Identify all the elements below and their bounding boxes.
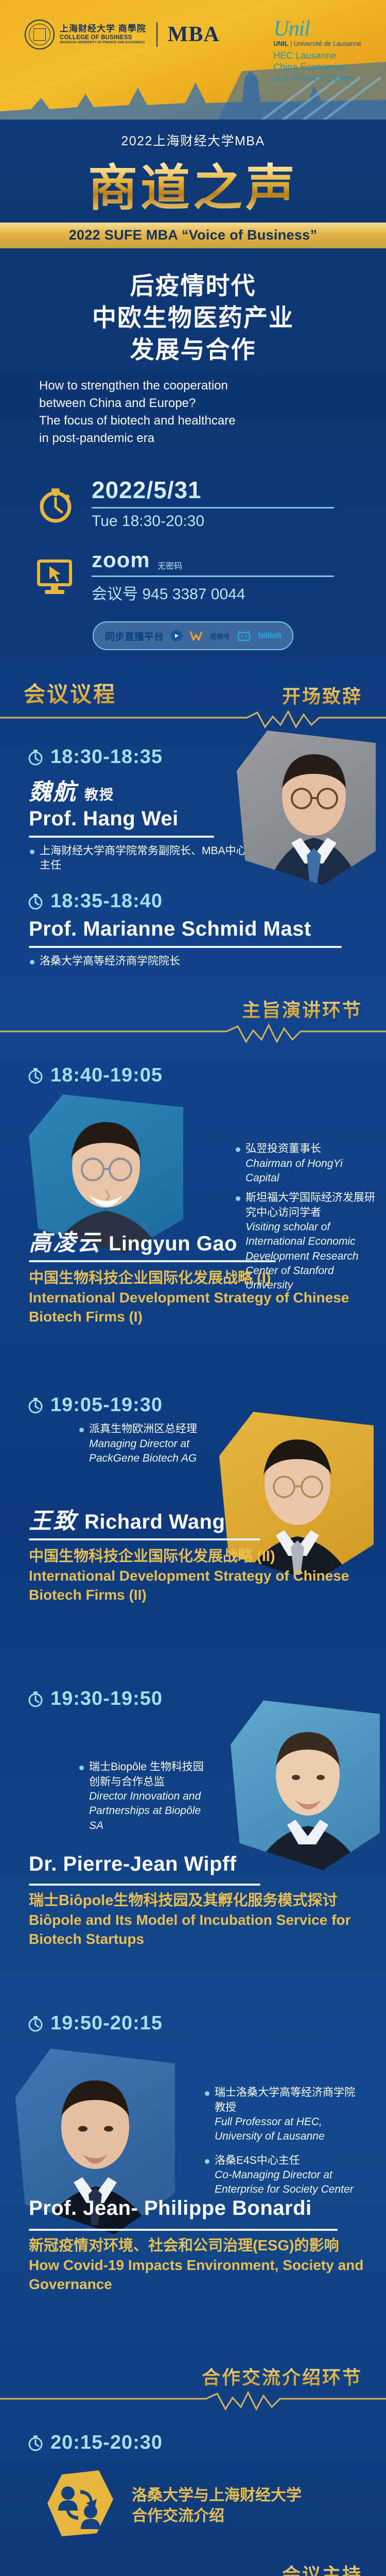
speaker-block-3: 18:40-19:05 弘翌投资董事长 Chairman of HongYi C… <box>0 1049 386 1317</box>
poster-header: 上海财经大学 商學院 COLLEGE OF BUSINESS SHANGHAI … <box>0 0 386 120</box>
series-title-en-band: 2022 SUFE MBA “Voice of Business” <box>0 223 386 248</box>
bullet-dot <box>236 1147 240 1152</box>
speaker-4-rule <box>29 1538 260 1540</box>
platform-row: zoom 无密码 会议号 945 3387 0044 <box>31 548 355 604</box>
speaker-4-talk: 中国生物科技企业国际化发展战略 (II) International Devel… <box>0 1547 386 1605</box>
speaker-1-affiliation-cn: 上海财经大学商学院常务副院长、MBA中心主任 <box>40 844 256 873</box>
speaker-4-talk-en: International Development Strategy of Ch… <box>29 1567 386 1605</box>
speaker-3-time-row: 18:40-19:05 <box>0 1064 386 1087</box>
speaker-2-time: 18:35-18:40 <box>50 890 163 912</box>
speaker-2-rule <box>29 946 342 948</box>
speaker-2-affiliation-cn: 洛桑大学高等经济商学院院长 <box>40 954 180 969</box>
speaker-block-5: 19:30-19:50 瑞士Biopôle 生物科技园创新与合作总监 Direc… <box>0 1672 386 1961</box>
speaker-3-talk: 中国生物科技企业国际化发展战略 (I) International Develo… <box>0 1268 386 1327</box>
speaker-4-role-cn: 派真生物欧洲区总经理 <box>89 1423 197 1435</box>
speaker-3-name-cn: 高凌云 <box>29 1224 101 1257</box>
speaker-6-bullets: 瑞士洛桑大学高等经济商学院教授 Full Professor at HEC, U… <box>175 2086 360 2202</box>
speaker-3-name-en: Lingyun Gao <box>109 1232 237 1256</box>
hec-center-name: HEC Lausanne China Economics and Finance… <box>273 50 361 84</box>
speaker-1-name-cn: 魏航 <box>29 773 77 806</box>
speaker-4-time-row: 19:05-19:30 <box>0 1394 386 1416</box>
brand-title-cn: 商道之声 <box>0 161 386 215</box>
speaker-6-rule <box>29 2229 338 2231</box>
bullet-dot <box>30 850 34 854</box>
speaker-2-bullets: 洛桑大学高等经济商学院院长 <box>0 954 386 969</box>
platform-name: zoom <box>92 548 150 572</box>
clock-icon <box>27 893 44 910</box>
bullet-dot <box>205 2159 209 2164</box>
platform-rule <box>92 575 334 577</box>
speaker-5-name-en: Dr. Pierre-Jean Wipff <box>29 1853 237 1876</box>
cooperation-section-header: 合作交流介绍环节 <box>0 2363 386 2416</box>
stopwatch-icon <box>31 480 78 527</box>
speaker-3-role2-cn: 斯坦福大学国际经济发展研究中心访问学者 <box>245 1192 375 1218</box>
bullet-dot <box>236 1196 240 1201</box>
speaker-block-6: 19:50-20:15 瑞士洛桑大学高等经济商学院教授 Full Profess… <box>0 1997 386 2316</box>
speaker-5-talk-en: Biôpole and Its Model of Incubation Serv… <box>29 1911 386 1949</box>
cooperation-time-row: 20:15-20:30 <box>0 2432 386 2454</box>
bullet-dot <box>205 2091 209 2096</box>
series-title-en: 2022 SUFE MBA “Voice of Business” <box>69 227 318 243</box>
speaker-photo-hang-wei <box>237 731 376 885</box>
speaker-5-role-cn: 瑞士Biopôle 生物科技园创新与合作总监 <box>89 1761 204 1787</box>
event-date: 2022/5/31 <box>92 476 355 504</box>
keynote-section-header: 主旨演讲环节 <box>0 995 386 1049</box>
sufe-name-cn: 上海财经大学 商學院 <box>60 24 146 33</box>
wechat-channels-icon <box>189 631 203 641</box>
speaker-6-talk: 新冠疫情对环境、社会和公司治理(ESG)的影响 How Covid-19 Imp… <box>0 2236 386 2294</box>
keynote-title: 主旨演讲环节 <box>242 995 362 1022</box>
clock-icon <box>27 749 44 766</box>
event-time: Tue 18:30-20:30 <box>92 513 355 530</box>
sufe-seal-icon <box>25 20 55 49</box>
people-exchange-icon <box>41 2467 118 2545</box>
speaker-3-talk-en: International Development Strategy of Ch… <box>29 1289 386 1327</box>
event-poster: 上海财经大学 商學院 COLLEGE OF BUSINESS SHANGHAI … <box>0 0 386 2576</box>
sufe-name-en: COLLEGE OF BUSINESS <box>60 35 146 41</box>
cooperation-intro-l2: 合作交流介绍 <box>132 2506 302 2527</box>
speaker-6-time: 19:50-20:15 <box>50 2012 163 2035</box>
speaker-1-time: 18:30-18:35 <box>50 746 163 768</box>
speaker-5-time: 19:30-19:50 <box>50 1688 163 1710</box>
topic-title-cn: 后疫情时代 中欧生物医药产业 发展与合作 <box>0 270 386 366</box>
clock-icon <box>27 2434 44 2452</box>
monitor-cursor-icon <box>31 552 78 600</box>
mba-wordmark: MBA <box>168 24 220 45</box>
clock-icon <box>27 1067 44 1084</box>
speaker-6-name-en: Prof. Jean- Philippe Bonardi <box>29 2197 312 2220</box>
speaker-5-rule <box>29 1884 260 1886</box>
ekg-divider-icon <box>0 2391 386 2415</box>
ekg-divider-icon <box>0 1023 386 1048</box>
unil-fullname: UNIL | Université de Lausanne <box>273 40 361 47</box>
speaker-6-role-cn: 瑞士洛桑大学高等经济商学院教授 <box>215 2087 355 2113</box>
speaker-block-4: 19:05-19:30 派真生物欧洲区总经理 Managing Director… <box>0 1379 386 1621</box>
speaker-photo-pierre-jean-wipff <box>231 1700 380 1870</box>
event-info: 2022/5/31 Tue 18:30-20:30 zoom 无密码 <box>0 476 386 650</box>
speaker-3-rule <box>29 1260 276 1262</box>
speaker-5-talk-cn: 瑞士Biôpole生物科技园及其孵化服务模式探讨 <box>29 1891 386 1911</box>
speaker-3-time: 18:40-19:05 <box>50 1064 163 1087</box>
clock-icon <box>27 1690 44 1708</box>
clock-icon <box>27 1397 44 1414</box>
play-icon <box>171 630 182 641</box>
agenda-section-header: 会议议程 开场致辞 <box>0 677 386 731</box>
live-platform-pill[interactable]: 同步直播平台 视频号 bilibili <box>93 621 293 650</box>
speaker-6-role2-en: Co-Managing Director at Enterprise for S… <box>215 2168 360 2197</box>
speaker-5-talk: 瑞士Biôpole生物科技园及其孵化服务模式探讨 Biôpole and Its… <box>0 1891 386 1949</box>
date-rule <box>92 507 334 509</box>
speaker-1-rule <box>29 836 214 838</box>
speaker-2-time-row: 18:35-18:40 <box>0 890 386 912</box>
cooperation-time: 20:15-20:30 <box>50 2432 163 2454</box>
cooperation-block: 20:15-20:30 洛桑大学与上海财经大学 合作交流介绍 <box>0 2416 386 2545</box>
sufe-name-en-full: SHANGHAI UNIVERSITY OF FINANCE AND ECONO… <box>60 41 146 44</box>
speaker-6-talk-cn: 新冠疫情对环境、社会和公司治理(ESG)的影响 <box>29 2236 386 2256</box>
speaker-block-1: 18:30-18:35 魏航 教授 Prof. Hang Wei 上海财经大学商… <box>0 731 386 875</box>
title-block: 2022上海财经大学MBA 商道之声 2022 SUFE MBA “Voice … <box>0 120 386 447</box>
meeting-id: 会议号 945 3387 0044 <box>92 581 355 604</box>
speaker-4-name-cn: 王致 <box>29 1502 77 1535</box>
speaker-4-talk-cn: 中国生物科技企业国际化发展战略 (II) <box>29 1547 386 1567</box>
speaker-4-role-en: Managing Director at PackGene Biotech AG <box>89 1437 204 1466</box>
cooperation-title: 合作交流介绍环节 <box>202 2363 362 2389</box>
bilibili-icon <box>237 630 251 641</box>
series-title-cn: 2022上海财经大学MBA <box>0 131 386 149</box>
speaker-5-time-row: 19:30-19:50 <box>0 1688 386 1710</box>
clock-icon <box>27 2015 44 2032</box>
speaker-6-talk-en: How Covid-19 Impacts Environment, Societ… <box>29 2256 386 2294</box>
speaker-3-role-en: Chairman of HongYi Capital <box>245 1157 376 1186</box>
wechat-channels-label: 视频号 <box>210 631 230 641</box>
bullet-dot <box>79 1428 84 1432</box>
speaker-4-bullets: 派真生物欧洲区总经理 Managing Director at PackGene… <box>49 1422 204 1471</box>
speaker-2-name-en: Prof. Marianne Schmid Mast <box>29 918 311 941</box>
speaker-block-2: 18:35-18:40 Prof. Marianne Schmid Mast 洛… <box>0 875 386 969</box>
speaker-3-role-cn: 弘翌投资董事长 <box>245 1143 321 1155</box>
speaker-1-name-en: Prof. Hang Wei <box>29 807 179 831</box>
speaker-1-degree: 教授 <box>84 784 114 804</box>
live-label: 同步直播平台 <box>105 629 164 643</box>
bullet-dot <box>79 1766 84 1770</box>
date-row: 2022/5/31 Tue 18:30-20:30 <box>31 476 355 530</box>
cooperation-intro-l1: 洛桑大学与上海财经大学 <box>132 2485 302 2506</box>
speaker-6-time-row: 19:50-20:15 <box>0 2012 386 2035</box>
unil-script-mark: Unil <box>273 20 361 39</box>
host-section-header: 会议主持 <box>0 2560 386 2576</box>
speaker-3-talk-cn: 中国生物科技企业国际化发展战略 (I) <box>29 1268 386 1289</box>
speaker-4-name-en: Richard Wang <box>84 1511 225 1534</box>
platform-password-note: 无密码 <box>157 562 182 571</box>
speaker-4-time: 19:05-19:30 <box>50 1394 163 1416</box>
opening-title: 开场致辞 <box>282 682 362 708</box>
speaker-5-bullets: 瑞士Biopôle 生物科技园创新与合作总监 Director Innovati… <box>49 1760 204 1838</box>
bullet-dot <box>30 960 34 964</box>
bilibili-label: bilibili <box>258 631 281 641</box>
agenda-title: 会议议程 <box>24 677 116 708</box>
host-title: 会议主持 <box>282 2560 362 2576</box>
logo-divider <box>156 22 157 47</box>
unil-logo: Unil UNIL | Université de Lausanne HEC L… <box>273 20 371 84</box>
speaker-6-role-en: Full Professor at HEC, University of Lau… <box>215 2115 360 2144</box>
speaker-5-role-en: Director Innovation and Partnerships at … <box>89 1789 204 1833</box>
sufe-logo: 上海财经大学 商學院 COLLEGE OF BUSINESS SHANGHAI … <box>25 20 220 49</box>
speaker-6-role2-cn: 洛桑E4S中心主任 <box>215 2155 300 2166</box>
topic-title-en: How to strengthen the cooperation betwee… <box>0 377 386 447</box>
